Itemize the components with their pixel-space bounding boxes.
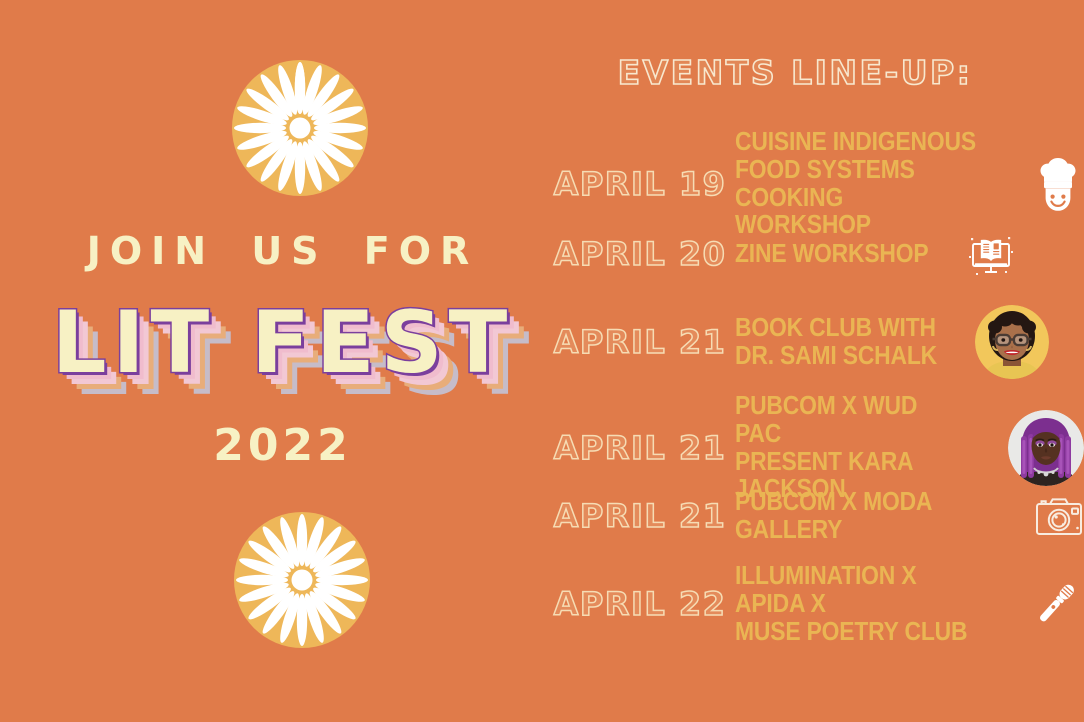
event-date: APRIL 21 (545, 500, 735, 532)
event-date: APRIL 22 (545, 588, 735, 620)
daisy-sunburst-icon-bottom (232, 510, 372, 650)
join-us-text: JOIN US FOR (0, 232, 565, 270)
events-column: EVENTS LINE-UP: APRIL 19 CUISINE INDIGEN… (545, 0, 1084, 722)
portrait-kara-jackson (1008, 410, 1084, 486)
event-title: BOOK CLUB WITH DR. SAMI SCHALK (735, 314, 937, 370)
event-date: APRIL 21 (545, 432, 735, 464)
event-title: ZINE WORKSHOP (735, 240, 928, 268)
event-date: APRIL 21 (545, 326, 735, 358)
headline-face: LIT FEST (0, 300, 565, 386)
book-on-monitor-icon (965, 228, 1017, 280)
camera-icon (1034, 495, 1084, 537)
event-row: APRIL 21 PUBCOM X MODA GALLERY (545, 488, 1084, 544)
lit-fest-headline: LIT FEST LIT FEST LIT FEST LIT FEST LIT … (0, 300, 565, 410)
event-body: CUISINE INDIGENOUS FOOD SYSTEMS COOKING … (735, 128, 1084, 239)
event-date: APRIL 20 (545, 238, 735, 270)
portrait-sami-schalk (975, 305, 1049, 379)
events-lineup-title: EVENTS LINE-UP: (545, 56, 1045, 89)
chef-hat-face-icon (1032, 155, 1084, 213)
daisy-sunburst-icon (230, 58, 370, 198)
poster-canvas: JOIN US FOR LIT FEST LIT FEST LIT FEST L… (0, 0, 1084, 722)
event-title: ILLUMINATION X APIDA X MUSE POETRY CLUB (735, 562, 984, 645)
event-body: BOOK CLUB WITH DR. SAMI SCHALK (735, 305, 1084, 379)
event-body: PUBCOM X MODA GALLERY (735, 488, 1084, 544)
event-title: PUBCOM X MODA GALLERY (735, 488, 989, 544)
year-text: 2022 (0, 424, 565, 468)
event-date: APRIL 19 (545, 168, 735, 200)
event-row: APRIL 21 BOOK CLUB WITH DR. SAMI SCHALK (545, 305, 1084, 379)
event-body: ILLUMINATION X APIDA X MUSE POETRY CLUB (735, 562, 1084, 645)
event-body: ZINE WORKSHOP (735, 228, 1084, 280)
event-row: APRIL 20 ZINE WORKSHOP (545, 228, 1084, 280)
event-row: APRIL 19 CUISINE INDIGENOUS FOOD SYSTEMS… (545, 128, 1084, 239)
microphone-icon (1028, 576, 1084, 632)
event-title: CUISINE INDIGENOUS FOOD SYSTEMS COOKING … (735, 128, 988, 239)
left-column: JOIN US FOR LIT FEST LIT FEST LIT FEST L… (0, 0, 565, 722)
event-row: APRIL 22 ILLUMINATION X APIDA X MUSE POE… (545, 562, 1084, 645)
